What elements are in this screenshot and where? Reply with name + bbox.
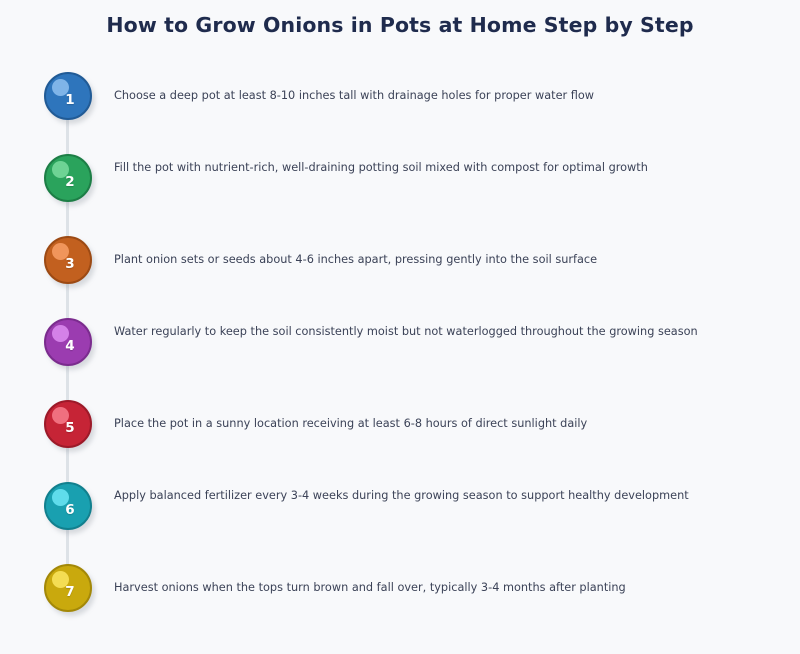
step-number-label: 6: [44, 482, 92, 530]
step-badge-1[interactable]: 1: [44, 72, 92, 120]
step-number-label: 3: [44, 236, 92, 284]
step-description: Apply balanced fertilizer every 3-4 week…: [114, 486, 714, 506]
step-number-label: 1: [44, 72, 92, 120]
step-description: Fill the pot with nutrient-rich, well-dr…: [114, 158, 714, 178]
step-description: Plant onion sets or seeds about 4-6 inch…: [114, 250, 714, 270]
step-description: Water regularly to keep the soil consist…: [114, 322, 714, 342]
step-number-label: 2: [44, 154, 92, 202]
step-badge-2[interactable]: 2: [44, 154, 92, 202]
step-badge-5[interactable]: 5: [44, 400, 92, 448]
step-description: Harvest onions when the tops turn brown …: [114, 578, 714, 598]
step-badge-4[interactable]: 4: [44, 318, 92, 366]
step-description: Place the pot in a sunny location receiv…: [114, 414, 714, 434]
step-list: 1Choose a deep pot at least 8-10 inches …: [0, 0, 800, 654]
step-badge-3[interactable]: 3: [44, 236, 92, 284]
step-description: Choose a deep pot at least 8-10 inches t…: [114, 86, 714, 106]
step-number-label: 4: [44, 318, 92, 366]
step-badge-6[interactable]: 6: [44, 482, 92, 530]
step-badge-7[interactable]: 7: [44, 564, 92, 612]
step-number-label: 7: [44, 564, 92, 612]
infographic-canvas: How to Grow Onions in Pots at Home Step …: [0, 0, 800, 654]
step-number-label: 5: [44, 400, 92, 448]
